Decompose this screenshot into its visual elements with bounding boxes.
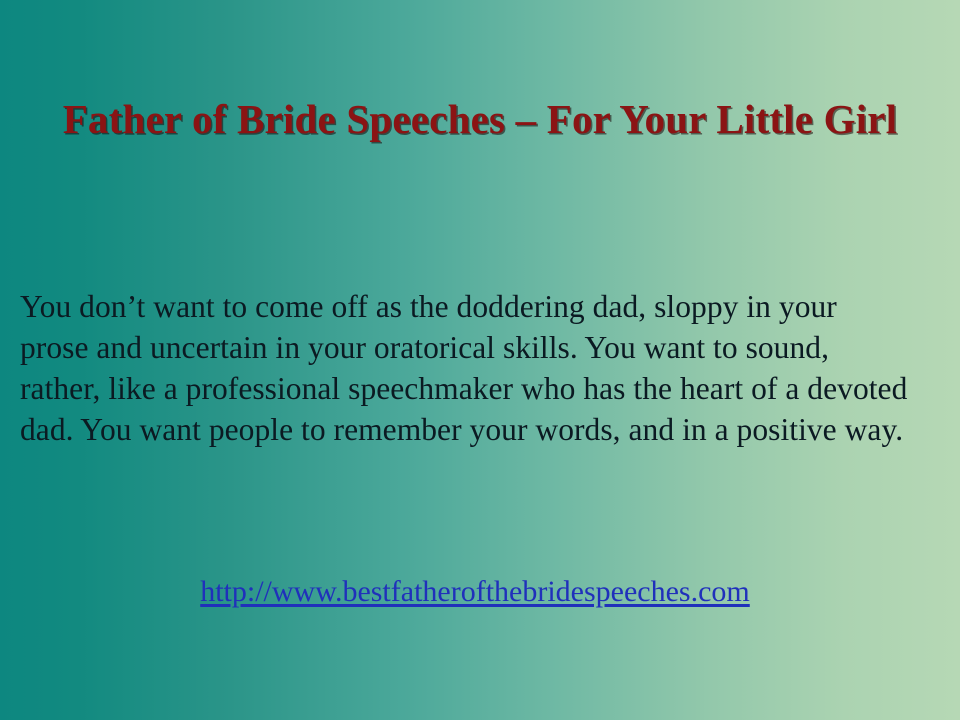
title-container: Father of Bride Speeches – For Your Litt… <box>0 92 960 147</box>
slide-canvas: Father of Bride Speeches – For Your Litt… <box>0 0 960 720</box>
link-container: http://www.bestfatherofthebridespeeches.… <box>0 573 960 611</box>
body-container: You don’t want to come off as the dodder… <box>20 286 912 450</box>
website-link[interactable]: http://www.bestfatherofthebridespeeches.… <box>200 575 750 608</box>
page-title: Father of Bride Speeches – For Your Litt… <box>18 92 942 147</box>
body-paragraph: You don’t want to come off as the dodder… <box>20 286 912 450</box>
